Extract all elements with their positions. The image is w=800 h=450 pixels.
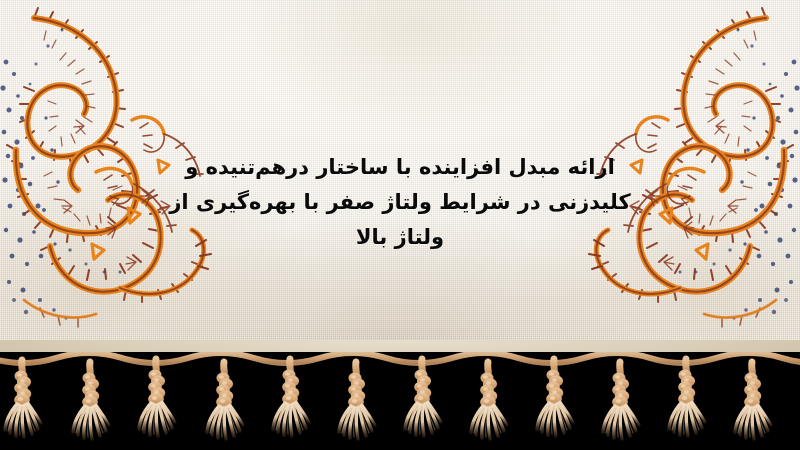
caption-line-3: ولتاژ بالا bbox=[0, 220, 800, 255]
caption-line-1: ارائه مبدل افزاینده با ساختار درهم‌تنیده… bbox=[0, 150, 800, 185]
caption-line-2: کلیدزنی در شرایط ولتاژ صفر با بهره‌گیری … bbox=[0, 185, 800, 220]
caption-text-block: ارائه مبدل افزاینده با ساختار درهم‌تنیده… bbox=[0, 150, 800, 255]
knotted-tassel-fringe bbox=[0, 352, 800, 450]
textile-banner-image: ارائه مبدل افزاینده با ساختار درهم‌تنیده… bbox=[0, 0, 800, 450]
